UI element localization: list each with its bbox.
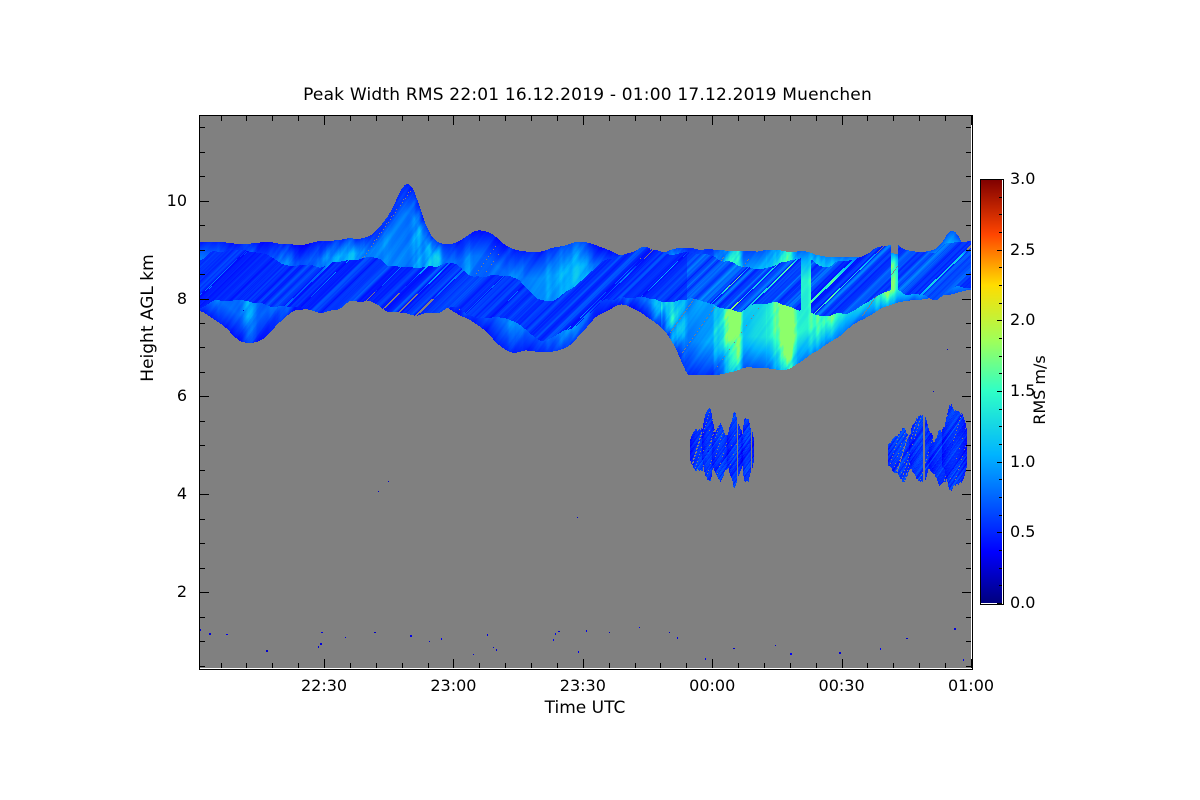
y-tick-label: 2 — [147, 582, 187, 601]
y-tick-label: 10 — [147, 191, 187, 210]
x-minor-tick — [557, 663, 558, 668]
colorbar-minor-tick — [999, 585, 1002, 586]
x-major-tick-top — [971, 116, 972, 125]
x-minor-tick — [221, 663, 222, 668]
y-minor-tick — [200, 617, 205, 618]
colorbar-minor-tick — [999, 409, 1002, 410]
y-minor-tick-right — [966, 445, 971, 446]
y-minor-tick — [200, 225, 205, 226]
x-minor-tick — [738, 663, 739, 668]
x-minor-tick-top — [919, 116, 920, 121]
colorbar-tick — [997, 320, 1002, 321]
y-minor-tick — [200, 127, 205, 128]
colorbar-tick-label: 1.5 — [1010, 381, 1056, 400]
colorbar-tick-label: 0.5 — [1010, 522, 1056, 541]
y-minor-tick-right — [966, 250, 971, 251]
y-major-tick-right — [962, 299, 971, 300]
x-tick-label: 22:30 — [284, 676, 364, 695]
colorbar-minor-tick — [999, 214, 1002, 215]
x-tick-label: 23:30 — [543, 676, 623, 695]
x-minor-tick — [609, 663, 610, 668]
colorbar-tick-label: 3.0 — [1010, 169, 1056, 188]
x-major-tick — [324, 659, 325, 668]
x-major-tick — [712, 659, 713, 668]
y-tick-label: 8 — [147, 289, 187, 308]
y-minor-tick-right — [966, 470, 971, 471]
y-minor-tick-right — [966, 323, 971, 324]
x-minor-tick-top — [505, 116, 506, 121]
x-minor-tick — [867, 663, 868, 668]
x-minor-tick-top — [686, 116, 687, 121]
x-minor-tick — [919, 663, 920, 668]
y-minor-tick — [200, 323, 205, 324]
x-tick-label: 00:30 — [802, 676, 882, 695]
colorbar-minor-tick — [999, 267, 1002, 268]
colorbar-minor-tick — [999, 568, 1002, 569]
y-major-tick — [200, 299, 209, 300]
colorbar-minor-tick — [999, 338, 1002, 339]
y-minor-tick — [200, 421, 205, 422]
x-axis-label: Time UTC — [199, 698, 971, 718]
x-tick-label: 23:00 — [413, 676, 493, 695]
x-major-tick — [971, 659, 972, 668]
x-major-tick-top — [324, 116, 325, 125]
colorbar-minor-tick — [999, 356, 1002, 357]
y-minor-tick-right — [966, 641, 971, 642]
y-tick-label: 6 — [147, 386, 187, 405]
x-minor-tick — [350, 663, 351, 668]
x-minor-tick — [376, 663, 377, 668]
y-minor-tick — [200, 372, 205, 373]
x-minor-tick — [945, 663, 946, 668]
y-minor-tick-right — [966, 372, 971, 373]
lidar-rms-figure: Peak Width RMS 22:01 16.12.2019 - 01:00 … — [0, 0, 1200, 800]
colorbar-tick — [997, 250, 1002, 251]
y-minor-tick-right — [966, 421, 971, 422]
y-minor-tick — [200, 176, 205, 177]
x-tick-label: 00:00 — [672, 676, 752, 695]
colorbar-tick — [997, 532, 1002, 533]
x-minor-tick — [298, 663, 299, 668]
y-minor-tick — [200, 470, 205, 471]
x-minor-tick-top — [738, 116, 739, 121]
x-major-tick-top — [583, 116, 584, 125]
colorbar-tick-label: 1.0 — [1010, 452, 1056, 471]
y-minor-tick-right — [966, 225, 971, 226]
x-tick-label: 01:00 — [931, 676, 1011, 695]
x-major-tick — [453, 659, 454, 668]
colorbar-tick-label: 2.5 — [1010, 240, 1056, 259]
x-minor-tick-top — [609, 116, 610, 121]
x-minor-tick-top — [246, 116, 247, 121]
y-major-tick-right — [962, 592, 971, 593]
x-minor-tick — [816, 663, 817, 668]
x-minor-tick-top — [428, 116, 429, 121]
y-minor-tick — [200, 666, 205, 667]
y-major-tick-right — [962, 201, 971, 202]
x-minor-tick-top — [816, 116, 817, 121]
x-major-tick — [583, 659, 584, 668]
y-major-tick — [200, 494, 209, 495]
y-minor-tick — [200, 152, 205, 153]
y-minor-tick-right — [966, 568, 971, 569]
x-major-tick-top — [453, 116, 454, 125]
colorbar-minor-tick — [999, 285, 1002, 286]
colorbar-minor-tick — [999, 479, 1002, 480]
y-minor-tick-right — [966, 347, 971, 348]
x-minor-tick — [402, 663, 403, 668]
x-minor-tick — [635, 663, 636, 668]
y-minor-tick-right — [966, 274, 971, 275]
y-minor-tick-right — [966, 617, 971, 618]
y-major-tick — [200, 592, 209, 593]
colorbar-minor-tick — [999, 550, 1002, 551]
y-minor-tick — [200, 250, 205, 251]
x-minor-tick — [686, 663, 687, 668]
colorbar-minor-tick — [999, 373, 1002, 374]
y-major-tick — [200, 396, 209, 397]
y-axis-label: Height AGL km — [138, 168, 158, 468]
x-minor-tick — [272, 663, 273, 668]
colorbar-tick — [997, 179, 1002, 180]
x-minor-tick-top — [945, 116, 946, 121]
y-minor-tick — [200, 641, 205, 642]
colorbar-tick — [997, 391, 1002, 392]
x-minor-tick-top — [221, 116, 222, 121]
x-major-tick-top — [842, 116, 843, 125]
colorbar-minor-tick — [999, 497, 1002, 498]
colorbar-tick — [997, 462, 1002, 463]
x-minor-tick — [428, 663, 429, 668]
y-minor-tick — [200, 519, 205, 520]
y-minor-tick — [200, 274, 205, 275]
x-minor-tick — [893, 663, 894, 668]
x-minor-tick-top — [790, 116, 791, 121]
x-major-tick — [842, 659, 843, 668]
x-minor-tick-top — [764, 116, 765, 121]
colorbar-tick — [997, 603, 1002, 604]
x-minor-tick-top — [298, 116, 299, 121]
colorbar-minor-tick — [999, 515, 1002, 516]
x-minor-tick-top — [531, 116, 532, 121]
x-major-tick-top — [712, 116, 713, 125]
y-minor-tick — [200, 445, 205, 446]
y-minor-tick-right — [966, 543, 971, 544]
colorbar-minor-tick — [999, 444, 1002, 445]
x-minor-tick-top — [867, 116, 868, 121]
y-minor-tick — [200, 543, 205, 544]
colorbar-minor-tick — [999, 426, 1002, 427]
colorbar-tick-label: 2.0 — [1010, 310, 1056, 329]
x-minor-tick-top — [402, 116, 403, 121]
x-minor-tick-top — [557, 116, 558, 121]
x-minor-tick-top — [635, 116, 636, 121]
y-minor-tick — [200, 568, 205, 569]
x-minor-tick — [479, 663, 480, 668]
y-minor-tick-right — [966, 176, 971, 177]
y-tick-label: 4 — [147, 484, 187, 503]
x-minor-tick — [764, 663, 765, 668]
x-minor-tick-top — [272, 116, 273, 121]
chart-title: Peak Width RMS 22:01 16.12.2019 - 01:00 … — [0, 85, 1175, 105]
time-height-heatmap — [199, 115, 971, 668]
x-minor-tick-top — [479, 116, 480, 121]
x-minor-tick-top — [893, 116, 894, 121]
y-minor-tick-right — [966, 127, 971, 128]
x-minor-tick — [660, 663, 661, 668]
colorbar-minor-tick — [999, 232, 1002, 233]
colorbar-minor-tick — [999, 303, 1002, 304]
x-minor-tick-top — [350, 116, 351, 121]
y-major-tick — [200, 201, 209, 202]
x-minor-tick — [246, 663, 247, 668]
x-minor-tick-top — [376, 116, 377, 121]
x-minor-tick — [531, 663, 532, 668]
y-minor-tick-right — [966, 519, 971, 520]
y-minor-tick-right — [966, 152, 971, 153]
y-major-tick-right — [962, 396, 971, 397]
y-minor-tick — [200, 347, 205, 348]
x-minor-tick — [790, 663, 791, 668]
colorbar-tick-label: 0.0 — [1010, 593, 1056, 612]
y-major-tick-right — [962, 494, 971, 495]
x-minor-tick-top — [660, 116, 661, 121]
x-minor-tick — [505, 663, 506, 668]
colorbar-minor-tick — [999, 197, 1002, 198]
